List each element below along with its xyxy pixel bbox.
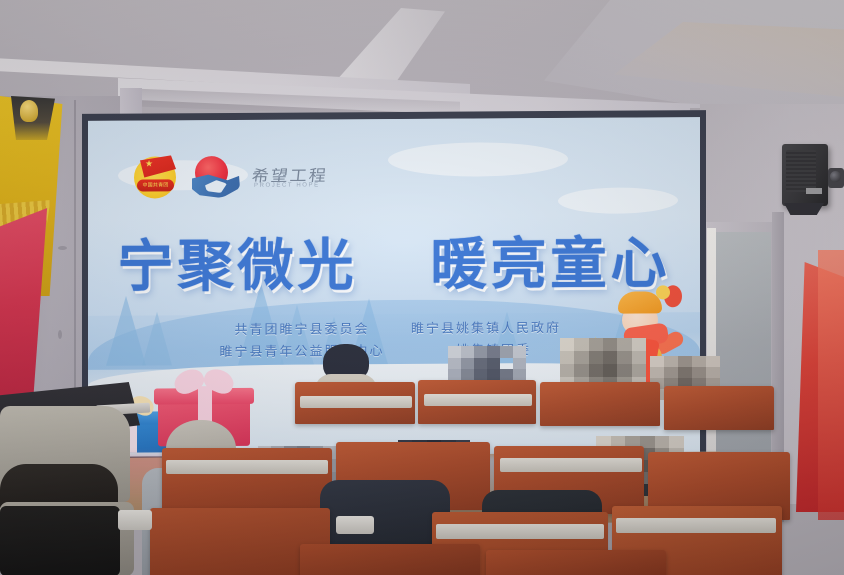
speaker-label <box>806 188 822 194</box>
camera-lens-icon <box>830 171 841 182</box>
seat-headrest <box>300 396 412 408</box>
seat-headrest <box>500 458 642 472</box>
auditorium-seat[interactable] <box>664 386 774 430</box>
hope-subtext: PROJECT HOPE <box>254 182 320 188</box>
project-hope-logo: 希望工程 PROJECT HOPE <box>192 156 252 198</box>
chair-base <box>0 506 120 575</box>
auditorium-seat[interactable] <box>300 544 480 575</box>
emblem-star-icon: ★ <box>145 159 153 168</box>
flag-finial-icon <box>20 100 38 122</box>
seat-headrest <box>616 518 776 533</box>
auditorium-seat[interactable] <box>540 382 660 426</box>
emblem-band-text: 中国共青团 <box>138 180 173 190</box>
white-object <box>118 510 152 530</box>
communist-youth-league-emblem: ★ 中国共青团 <box>130 150 182 198</box>
mascot-hat <box>618 291 662 313</box>
auditorium-photo: ★ 中国共青团 希望工程 PROJECT HOPE 宁聚微光 暖亮童心 共 <box>0 0 844 575</box>
white-object <box>336 516 374 534</box>
speaker-grille <box>786 150 816 192</box>
foreground-chair-base <box>0 506 120 575</box>
auditorium-seat[interactable] <box>162 448 332 514</box>
auditorium-seat[interactable] <box>486 550 666 575</box>
seat-headrest <box>436 524 604 539</box>
seat-headrest <box>166 460 328 474</box>
wall-mark <box>58 246 67 250</box>
audience-seating <box>0 330 844 575</box>
headline-left: 宁聚微光 <box>118 233 358 299</box>
seat-headrest <box>424 394 532 406</box>
